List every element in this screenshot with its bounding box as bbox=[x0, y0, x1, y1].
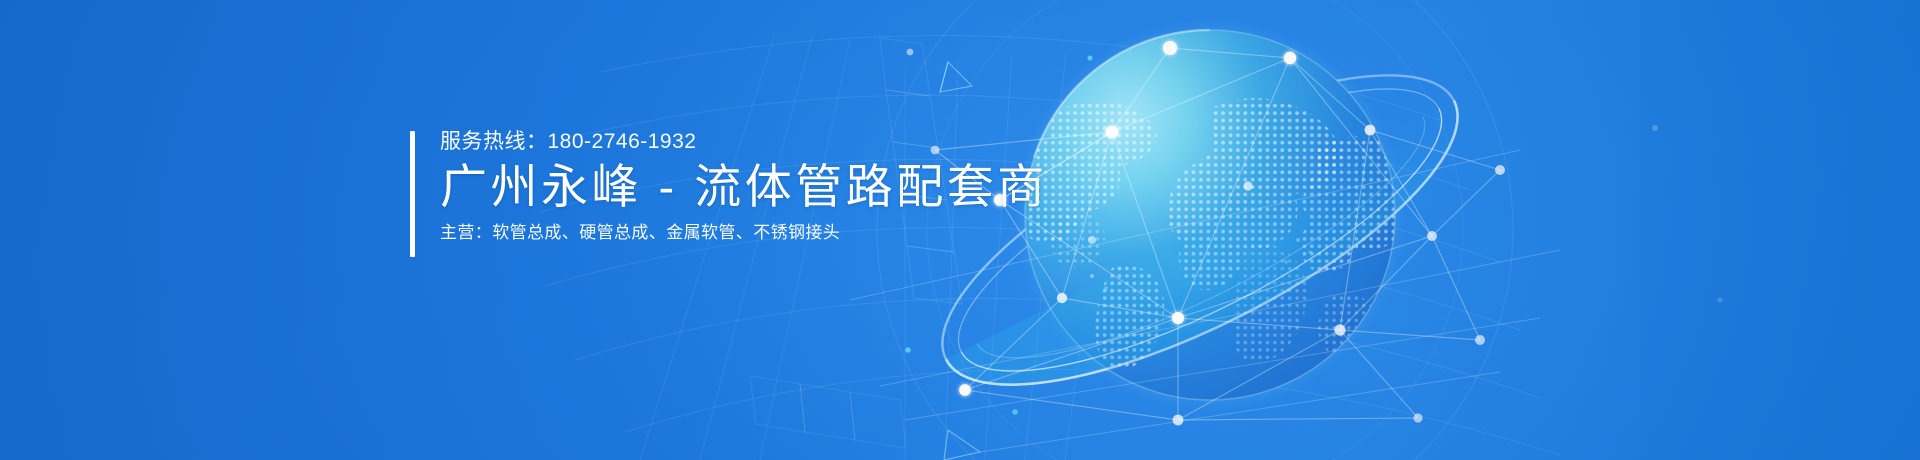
stair-grid-left bbox=[750, 376, 906, 448]
wireframe-triangles bbox=[940, 62, 980, 460]
banner-text-block: 服务热线：180-2746-1932 广州永峰 - 流体管路配套商 主营：软管总… bbox=[410, 131, 1048, 257]
banner-headline: 广州永峰 - 流体管路配套商 bbox=[440, 163, 1048, 210]
banner-subtitle: 主营：软管总成、硬管总成、金属软管、不锈钢接头 bbox=[440, 224, 1048, 241]
hero-banner: 服务热线：180-2746-1932 广州永峰 - 流体管路配套商 主营：软管总… bbox=[0, 0, 1920, 460]
service-hotline: 服务热线：180-2746-1932 bbox=[440, 131, 1048, 152]
accent-bar bbox=[410, 131, 415, 257]
